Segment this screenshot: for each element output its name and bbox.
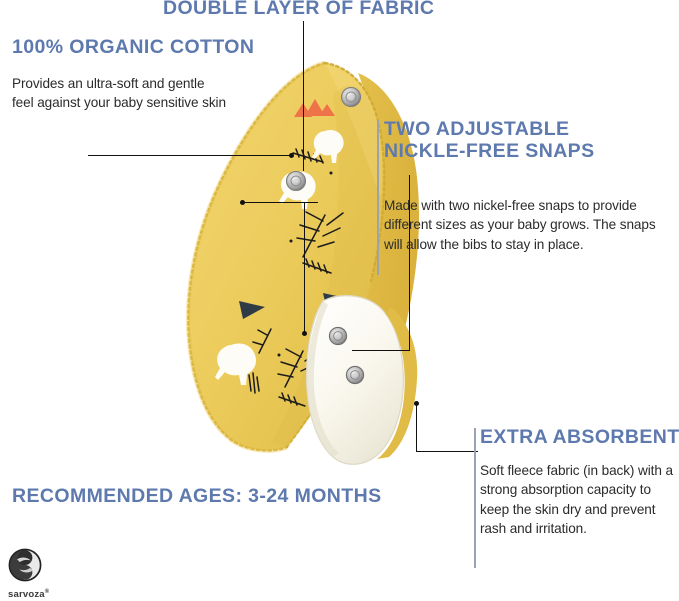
leader-line-absorbent-horizontal [416, 451, 478, 452]
brand-logo-mark [8, 548, 42, 582]
callout-heading-double-layer: DOUBLE LAYER OF FABRIC [163, 0, 434, 19]
brand-name: sarvoza [8, 589, 45, 600]
snap-top-left [287, 172, 306, 191]
brand-logo-text: sarvoza® [8, 589, 68, 600]
brand-trademark: ® [45, 589, 50, 595]
snap-fleece-upper [329, 327, 346, 344]
leader-line-organic-cotton [88, 155, 293, 156]
brand-logo: sarvoza® [8, 548, 68, 598]
leader-dot-fleece-flap [302, 331, 307, 336]
callout-heading-organic-cotton: 100% ORGANIC COTTON [12, 36, 254, 58]
callout-body-absorbent: Soft fleece fabric (in back) with a stro… [480, 461, 676, 538]
snap-fleece-lower [346, 366, 363, 383]
leader-line-fleece-flap [304, 202, 305, 334]
leader-line-absorbent-vertical [416, 404, 417, 452]
divider-snaps-block [377, 120, 379, 275]
divider-absorbent-block [474, 428, 476, 568]
snap-top-right [342, 88, 361, 107]
callout-heading-absorbent: EXTRA ABSORBENT [480, 426, 679, 448]
leader-dot-snaps-upper [240, 200, 245, 205]
leader-line-double-layer [303, 21, 304, 171]
leader-line-snap-lower-horizontal [352, 350, 410, 351]
callout-heading-recommended-ages: RECOMMENDED AGES: 3-24 MONTHS [12, 485, 382, 507]
callout-body-snaps: Made with two nickel-free snaps to provi… [384, 196, 664, 254]
leader-dot-organic-cotton [289, 153, 294, 158]
callout-body-organic-cotton: Provides an ultra-soft and gentle feel a… [12, 74, 227, 113]
infographic-canvas: DOUBLE LAYER OF FABRIC 100% ORGANIC COTT… [0, 0, 679, 601]
leader-line-snaps-upper [243, 202, 318, 203]
callout-heading-snaps: TWO ADJUSTABLE NICKLE-FREE SNAPS [384, 118, 634, 162]
